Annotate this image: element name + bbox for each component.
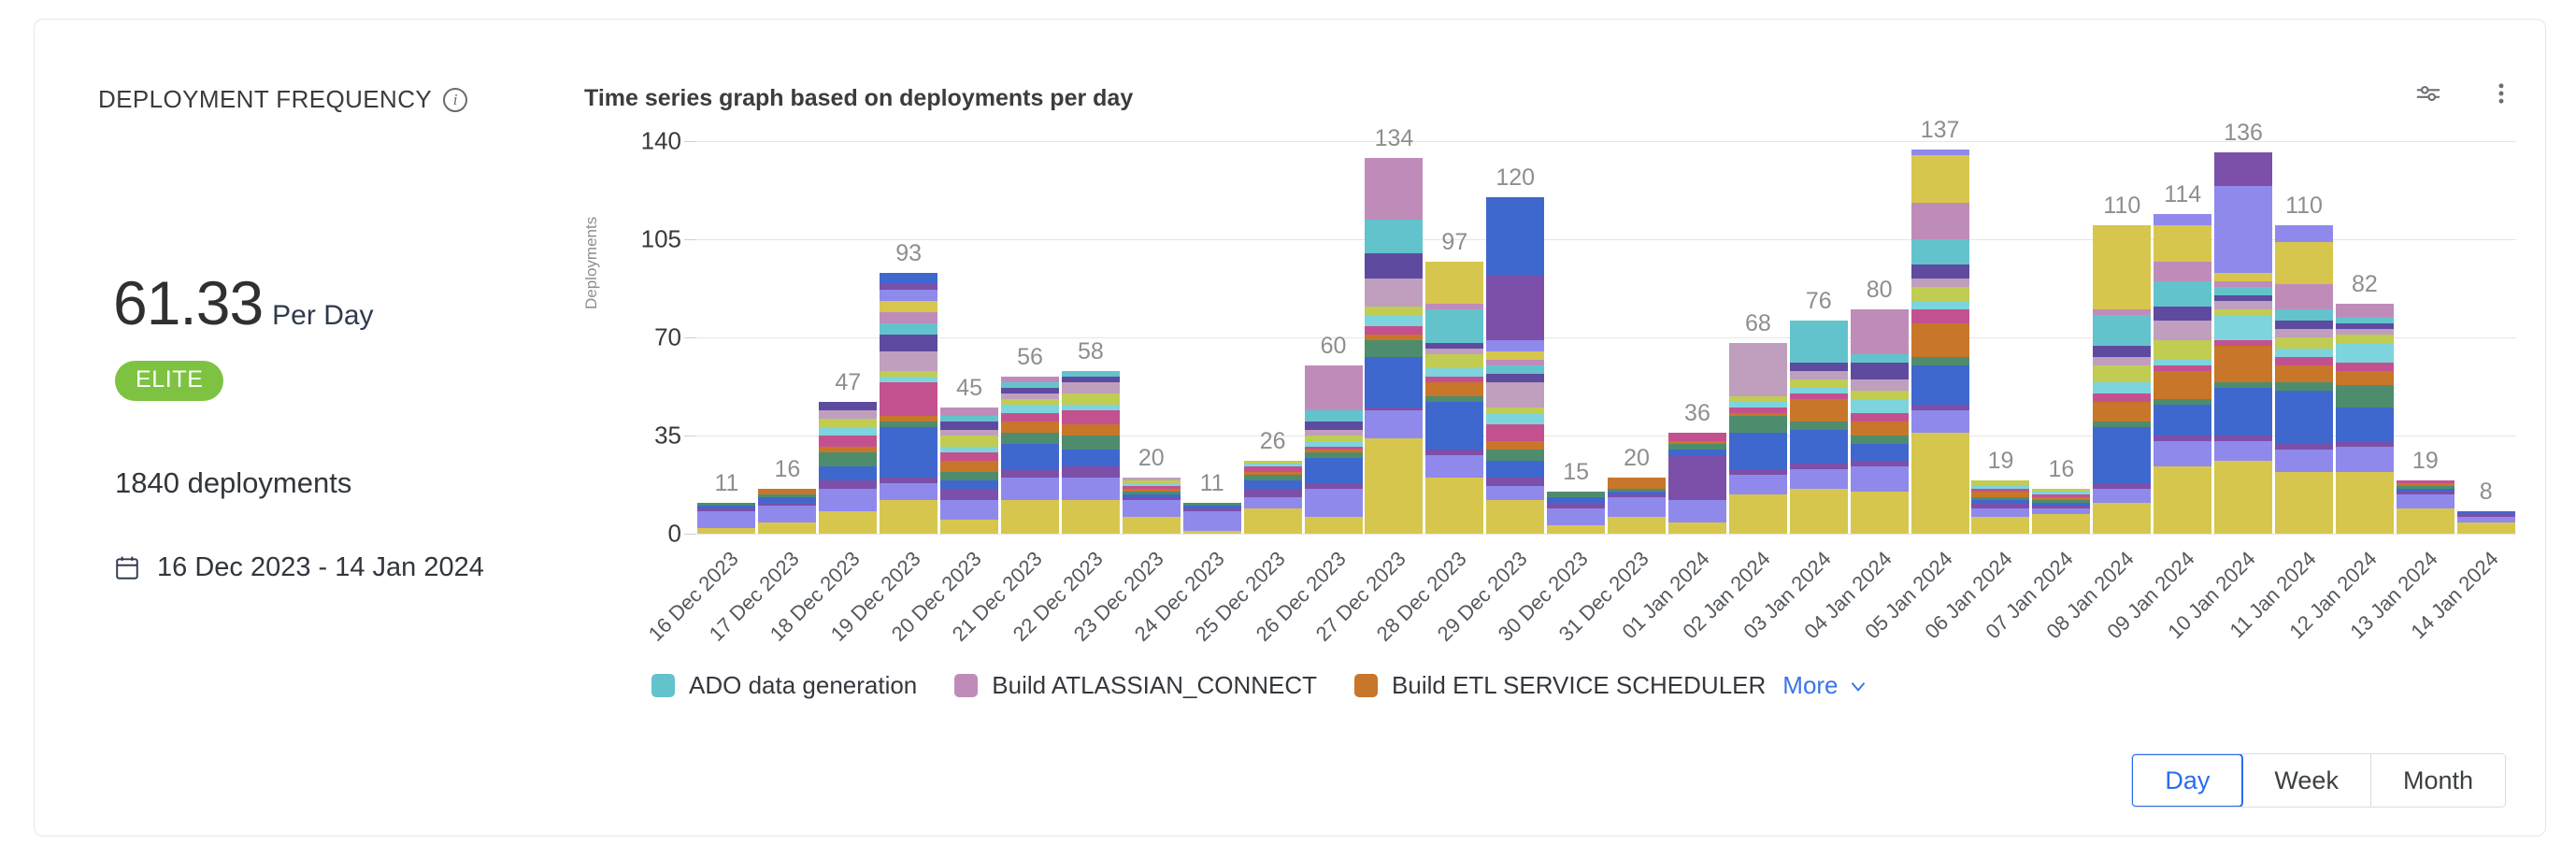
bar-value-label: 76: [1806, 288, 1832, 315]
stacked-bar[interactable]: [1062, 371, 1120, 534]
y-tick-mark: [684, 337, 696, 338]
chart-plot-area: Deployments 0357010514011164793455658201…: [584, 130, 2519, 728]
bar-segment: [1911, 239, 1969, 265]
legend-swatch: [954, 674, 978, 697]
bar-value-label: 80: [1867, 277, 1893, 304]
bar-slot[interactable]: 56: [1000, 141, 1061, 534]
bar-segment: [2154, 441, 2211, 466]
bar-segment: [2457, 522, 2515, 534]
stacked-bar[interactable]: [1123, 478, 1181, 534]
bar-slot[interactable]: 110: [2274, 141, 2335, 534]
bar-segment: [2336, 363, 2394, 371]
legend-item[interactable]: ADO data generation: [651, 671, 917, 700]
bar-segment: [2214, 186, 2272, 273]
stacked-bar[interactable]: [1911, 150, 1969, 534]
bar-segment: [1729, 343, 1787, 396]
bar-segment: [880, 382, 937, 416]
granularity-toggle[interactable]: DayWeekMonth: [2131, 753, 2506, 808]
bar-value-label: 15: [1563, 459, 1589, 486]
bar-segment: [1062, 393, 1120, 405]
bar-segment: [1244, 508, 1302, 534]
page-title: DEPLOYMENT FREQUENCY: [98, 85, 432, 114]
bar-segment: [819, 452, 877, 466]
bar-segment: [2275, 365, 2333, 382]
bar-segment: [2154, 281, 2211, 307]
bar-segment: [1851, 354, 1909, 363]
bar-segment: [1001, 413, 1059, 422]
bar-slot[interactable]: 15: [1546, 141, 1607, 534]
bar-segment: [1001, 478, 1059, 500]
stacked-bar[interactable]: [1365, 158, 1423, 534]
more-vertical-icon[interactable]: [2485, 78, 2517, 109]
stacked-bar[interactable]: [1971, 480, 2029, 534]
bar-segment: [2093, 382, 2151, 393]
bar-segment: [940, 452, 998, 461]
stacked-bar[interactable]: [1425, 262, 1483, 534]
bar-segment: [1971, 517, 2029, 534]
bar-segment: [880, 312, 937, 323]
bar-segment: [819, 480, 877, 489]
bar-segment: [1790, 363, 1848, 371]
bar-segment: [1365, 326, 1423, 335]
bar-segment: [1365, 253, 1423, 279]
bar-value-label: 47: [835, 369, 861, 396]
bar-value-label: 20: [1624, 445, 1650, 472]
sliders-icon[interactable]: [2412, 78, 2444, 109]
bar-slot[interactable]: 26: [1242, 141, 1303, 534]
bar-slot[interactable]: 60: [1303, 141, 1364, 534]
bar-segment: [880, 290, 937, 301]
bar-segment: [2275, 329, 2333, 337]
bar-segment: [1911, 309, 1969, 323]
bar-value-label: 45: [956, 375, 982, 402]
bar-value-label: 60: [1321, 333, 1347, 360]
bar-slot[interactable]: 11: [1181, 141, 1242, 534]
plot-canvas: 0357010514011164793455658201126601349712…: [696, 141, 2516, 534]
bar-slot[interactable]: 120: [1485, 141, 1546, 534]
bar-segment: [1851, 492, 1909, 534]
bar-segment: [2214, 273, 2272, 281]
bar-segment: [1244, 480, 1302, 489]
bar-segment: [2154, 214, 2211, 225]
bar-segment: [1425, 262, 1483, 304]
bar-value-label: 8: [2480, 479, 2493, 506]
bar-segment: [1305, 489, 1363, 517]
bar-value-label: 19: [1988, 448, 2014, 475]
stacked-bar[interactable]: [2397, 480, 2454, 534]
bar-segment: [2154, 262, 2211, 281]
bar-segment: [1486, 486, 1544, 500]
bar-segment: [2093, 393, 2151, 402]
stacked-bar[interactable]: [2032, 489, 2090, 534]
bar-segment: [1486, 382, 1544, 408]
bar-segment: [2214, 315, 2272, 340]
bar-segment: [2154, 321, 2211, 340]
stacked-bar[interactable]: [1547, 492, 1605, 534]
bar-segment: [758, 522, 816, 534]
bar-slot[interactable]: 68: [1727, 141, 1788, 534]
legend-item[interactable]: Build ATLASSIAN_CONNECT: [954, 671, 1317, 700]
bar-segment: [2397, 508, 2454, 534]
bar-segment: [2336, 371, 2394, 385]
stacked-bar[interactable]: [880, 273, 937, 534]
bar-segment: [1365, 357, 1423, 408]
bar-segment: [819, 511, 877, 534]
bar-segment: [1062, 450, 1120, 466]
bar-slot[interactable]: 93: [879, 141, 939, 534]
date-range-row: 16 Dec 2023 - 14 Jan 2024: [115, 552, 484, 583]
legend-item-label: Build ETL SERVICE SCHEDULER: [1392, 671, 1766, 700]
bar-segment: [2275, 450, 2333, 472]
bar-segment: [1729, 475, 1787, 494]
bar-segment: [1001, 469, 1059, 478]
legend-more-label: More: [1782, 671, 1838, 700]
bar-value-label: 20: [1138, 445, 1165, 472]
stacked-bar[interactable]: [1001, 377, 1059, 534]
bar-segment: [1608, 517, 1666, 534]
stacked-bar[interactable]: [2275, 225, 2333, 534]
bar-segment: [1668, 522, 1726, 534]
bar-value-label: 16: [774, 456, 800, 483]
bar-slot[interactable]: 20: [1121, 141, 1181, 534]
bar-segment: [1608, 478, 1666, 489]
info-icon[interactable]: i: [443, 88, 467, 112]
bar-slot[interactable]: 80: [1849, 141, 1910, 534]
legend-item[interactable]: Build ETL SERVICE SCHEDULER: [1354, 671, 1766, 700]
bar-segment: [940, 408, 998, 416]
bar-segment: [1911, 410, 1969, 433]
bar-segment: [940, 472, 998, 480]
bar-segment: [880, 427, 937, 478]
deployment-frequency-card: DEPLOYMENT FREQUENCY i 61.33 Per Day ELI…: [34, 19, 2546, 837]
y-axis-tick-label: 140: [641, 127, 681, 156]
bar-segment: [1486, 450, 1544, 461]
bar-segment: [2093, 402, 2151, 422]
gridline: [696, 534, 2516, 535]
bar-segment: [1001, 433, 1059, 444]
bar-segment: [1305, 517, 1363, 534]
bar-segment: [1911, 323, 1969, 357]
bar-segment: [2214, 388, 2272, 436]
bar-segment: [1911, 279, 1969, 287]
bar-slot[interactable]: 82: [2334, 141, 2395, 534]
bar-value-label: 136: [2224, 120, 2263, 147]
bar-segment: [819, 427, 877, 436]
bar-slot[interactable]: 58: [1060, 141, 1121, 534]
calendar-icon: [115, 555, 139, 581]
bar-segment: [1062, 436, 1120, 450]
bar-segment: [1668, 433, 1726, 441]
bar-slot[interactable]: 45: [939, 141, 1000, 534]
bar-value-label: 56: [1017, 344, 1043, 371]
bar-segment: [819, 489, 877, 511]
stacked-bar[interactable]: [697, 503, 755, 534]
bar-segment: [2154, 371, 2211, 399]
bar-segment: [1851, 444, 1909, 461]
bar-slot[interactable]: 136: [2213, 141, 2274, 534]
bar-segment: [1790, 371, 1848, 379]
bar-segment: [2214, 287, 2272, 295]
bar-segment: [1486, 413, 1544, 424]
bar-value-label: 58: [1078, 338, 1104, 365]
bar-segment: [2093, 503, 2151, 534]
bar-segment: [2336, 304, 2394, 318]
stacked-bar[interactable]: [1851, 309, 1909, 534]
stacked-bar[interactable]: [1668, 433, 1726, 534]
bar-segment: [1911, 265, 1969, 279]
stacked-bar[interactable]: [940, 408, 998, 534]
bar-segment: [2093, 346, 2151, 357]
bar-segment: [1790, 379, 1848, 388]
bar-segment: [1425, 478, 1483, 534]
stacked-bar[interactable]: [1790, 321, 1848, 534]
bar-slot[interactable]: 20: [1607, 141, 1667, 534]
bar-segment: [1305, 410, 1363, 422]
bar-segment: [940, 500, 998, 520]
bar-segment: [1851, 413, 1909, 422]
metric-value-row: 61.33 Per Day: [113, 267, 374, 338]
stacked-bar[interactable]: [1608, 478, 1666, 534]
legend-item-label: ADO data generation: [689, 671, 917, 700]
bar-slot[interactable]: 19: [1970, 141, 2031, 534]
bar-segment: [1244, 489, 1302, 497]
bar-segment: [2275, 284, 2333, 309]
bar-segment: [2275, 472, 2333, 534]
stacked-bar[interactable]: [819, 402, 877, 534]
bar-segment: [2275, 391, 2333, 444]
bar-value-label: 11: [1200, 470, 1224, 497]
bar-segment: [1486, 197, 1544, 276]
bar-value-label: 114: [2164, 181, 2201, 208]
bar-segment: [1790, 469, 1848, 489]
stacked-bar[interactable]: [2457, 511, 2515, 534]
bar-segment: [1911, 357, 1969, 365]
bar-segment: [1305, 365, 1363, 410]
bar-segment: [2154, 405, 2211, 436]
bar-value-label: 82: [2352, 271, 2378, 298]
y-tick-mark: [684, 534, 696, 535]
legend-swatch: [651, 674, 675, 697]
bar-segment: [1062, 466, 1120, 478]
bar-segment: [2336, 335, 2394, 343]
bar-segment: [2397, 494, 2454, 508]
bar-segment: [1001, 422, 1059, 433]
bar-segment: [1851, 391, 1909, 399]
stacked-bar[interactable]: [2154, 214, 2211, 534]
bar-segment: [2214, 461, 2272, 534]
bar-segment: [880, 483, 937, 500]
bar-segment: [1790, 422, 1848, 430]
bar-segment: [819, 402, 877, 410]
bar-segment: [1668, 455, 1726, 500]
bar-segment: [1911, 433, 1969, 534]
bar-slot[interactable]: 19: [2395, 141, 2455, 534]
bar-slot[interactable]: 76: [1788, 141, 1849, 534]
y-axis-tick-label: 0: [668, 520, 681, 549]
bar-segment: [2214, 301, 2272, 309]
bar-segment: [1001, 500, 1059, 534]
bar-value-label: 110: [2285, 193, 2323, 220]
bar-slot[interactable]: 47: [818, 141, 879, 534]
bar-slot[interactable]: 97: [1424, 141, 1485, 534]
chart-header-actions: [2412, 78, 2517, 109]
bar-segment: [1425, 455, 1483, 478]
bar-segment: [1486, 276, 1544, 340]
granularity-option-week[interactable]: Week: [2242, 754, 2371, 807]
y-axis-tick-label: 70: [654, 323, 681, 352]
bar-segment: [2336, 343, 2394, 363]
bar-value-label: 97: [1441, 229, 1467, 256]
bar-segment: [1851, 422, 1909, 436]
stacked-bar[interactable]: [1183, 503, 1241, 534]
bar-value-label: 68: [1745, 310, 1771, 337]
deployments-total: 1840 deployments: [115, 466, 351, 500]
bar-slot[interactable]: 16: [2031, 141, 2092, 534]
bar-segment: [1365, 307, 1423, 315]
bar-segment: [1790, 430, 1848, 464]
bar-segment: [2093, 225, 2151, 309]
bar-segment: [940, 520, 998, 534]
y-tick-mark: [684, 141, 696, 142]
bar-segment: [2032, 514, 2090, 534]
bar-segment: [2093, 365, 2151, 382]
stacked-bar[interactable]: [1729, 343, 1787, 534]
stacked-bar[interactable]: [2336, 304, 2394, 534]
bar-segment: [819, 436, 877, 447]
bar-slot[interactable]: 114: [2153, 141, 2213, 534]
bar-segment: [2093, 489, 2151, 503]
bar-segment: [1062, 410, 1120, 424]
bar-segment: [1729, 416, 1787, 433]
legend-more-button[interactable]: More: [1782, 671, 1869, 700]
bar-segment: [2154, 225, 2211, 262]
bar-segment: [940, 436, 998, 447]
bar-value-label: 36: [1684, 400, 1710, 427]
bar-segment: [2093, 357, 2151, 365]
bar-segment: [2275, 309, 2333, 321]
bar-segment: [1851, 399, 1909, 413]
bar-segment: [880, 323, 937, 335]
stacked-bar[interactable]: [1244, 461, 1302, 534]
bar-segment: [2214, 441, 2272, 461]
bar-segment: [1911, 301, 1969, 309]
bar-segment: [2154, 340, 2211, 360]
metric-value: 61.33: [113, 267, 263, 338]
metric-unit: Per Day: [272, 300, 373, 332]
bar-segment: [1911, 155, 1969, 203]
bar-segment: [1425, 309, 1483, 343]
metric-title-row: DEPLOYMENT FREQUENCY i: [98, 85, 467, 114]
y-axis-title: Deployments: [582, 217, 601, 309]
chevron-down-icon: [1846, 674, 1870, 698]
granularity-option-month[interactable]: Month: [2371, 754, 2505, 807]
bar-segment: [1183, 531, 1241, 534]
bar-slot[interactable]: 11: [696, 141, 757, 534]
bar-segment: [1183, 511, 1241, 531]
bar-segment: [2154, 466, 2211, 534]
stacked-bar[interactable]: [2214, 152, 2272, 534]
bar-segment: [2336, 472, 2394, 534]
bar-slot[interactable]: 134: [1364, 141, 1424, 534]
bar-slot[interactable]: 137: [1910, 141, 1970, 534]
bar-value-label: 110: [2103, 193, 2140, 220]
date-range-text: 16 Dec 2023 - 14 Jan 2024: [157, 552, 484, 583]
bar-segment: [758, 506, 816, 522]
y-axis-tick-label: 105: [641, 225, 681, 254]
bar-value-label: 137: [1921, 117, 1960, 144]
bar-segment: [880, 335, 937, 351]
bar-segment: [1425, 354, 1483, 368]
bar-segment: [2154, 307, 2211, 321]
bar-value-label: 120: [1496, 164, 1535, 192]
bar-segment: [819, 410, 877, 419]
stacked-bar[interactable]: [758, 489, 816, 534]
bar-segment: [1001, 405, 1059, 413]
bar-value-label: 26: [1260, 428, 1286, 455]
bar-segment: [1365, 340, 1423, 357]
y-axis-tick-label: 35: [654, 422, 681, 450]
bar-segment: [1911, 365, 1969, 405]
bar-segment: [940, 422, 998, 430]
bar-segment: [697, 511, 755, 528]
summary-panel: DEPLOYMENT FREQUENCY i 61.33 Per Day ELI…: [66, 20, 590, 836]
chart-title: Time series graph based on deployments p…: [584, 85, 1133, 112]
bar-segment: [1244, 497, 1302, 508]
bar-value-label: 16: [2048, 456, 2074, 483]
bar-segment: [1062, 478, 1120, 500]
stacked-bar[interactable]: [1486, 197, 1544, 534]
bar-segment: [1851, 466, 1909, 492]
bar-slot[interactable]: 8: [2455, 141, 2516, 534]
bar-segment: [880, 351, 937, 371]
bar-segment: [1790, 489, 1848, 534]
bar-segment: [2275, 337, 2333, 349]
bar-segment: [1001, 444, 1059, 469]
screen-root: DEPLOYMENT FREQUENCY i 61.33 Per Day ELI…: [0, 0, 2576, 858]
bar-segment: [940, 461, 998, 472]
bar-slot[interactable]: 16: [757, 141, 818, 534]
bar-segment: [1365, 315, 1423, 326]
bar-segment: [2336, 408, 2394, 441]
bar-value-label: 134: [1375, 125, 1414, 152]
bar-value-label: 19: [2412, 448, 2439, 475]
bar-value-label: 93: [895, 240, 922, 267]
bar-segment: [1425, 368, 1483, 377]
bar-value-label: 11: [714, 470, 738, 497]
bar-segment: [697, 528, 755, 534]
granularity-option-day[interactable]: Day: [2131, 753, 2243, 808]
stacked-bar[interactable]: [2093, 225, 2151, 534]
bar-slot[interactable]: 110: [2092, 141, 2153, 534]
stacked-bar[interactable]: [1305, 365, 1363, 534]
chart-legend: ADO data generationBuild ATLASSIAN_CONNE…: [651, 671, 1870, 700]
bar-slot[interactable]: 36: [1667, 141, 1728, 534]
bar-segment: [1365, 438, 1423, 534]
bar-segment: [1062, 382, 1120, 393]
bar-segment: [1608, 497, 1666, 517]
bar-segment: [1790, 399, 1848, 422]
bar-segment: [880, 500, 937, 534]
bar-segment: [1365, 410, 1423, 438]
bar-series: 1116479345565820112660134971201520366876…: [696, 141, 2516, 534]
bar-segment: [1486, 461, 1544, 478]
bar-segment: [1851, 436, 1909, 444]
bar-segment: [1365, 220, 1423, 253]
bar-segment: [1486, 340, 1544, 351]
bar-segment: [1486, 478, 1544, 486]
bar-segment: [2275, 357, 2333, 365]
bar-segment: [940, 489, 998, 500]
